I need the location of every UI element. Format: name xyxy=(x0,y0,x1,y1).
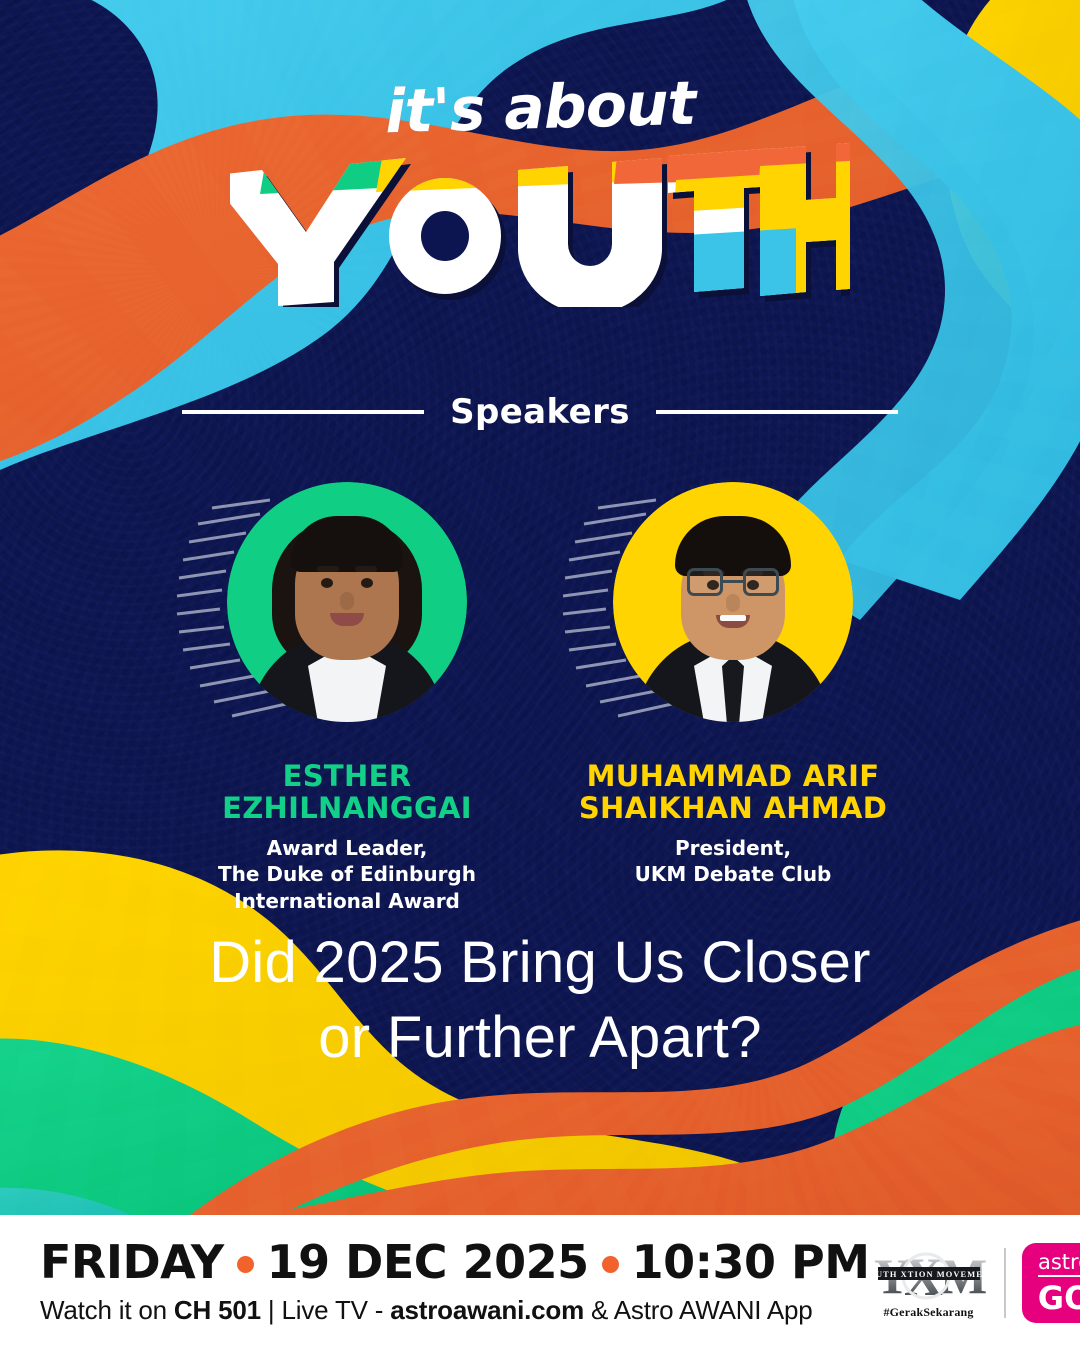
speakers-list: ESTHER EZHILNANGGAI Award Leader, The Du… xyxy=(0,470,1080,914)
poster-canvas: it's about xyxy=(0,0,1080,1350)
astro-go-wordmark-top: astro xyxy=(1038,1252,1080,1277)
speaker-card-muhammad-arif: MUHAMMAD ARIF SHAIKHAN AHMAD President, … xyxy=(568,470,898,914)
speaker-avatar-esther-ezhilnanggai xyxy=(227,482,467,722)
logo-wordmark-youth xyxy=(230,132,850,307)
logo-divider xyxy=(1004,1248,1006,1318)
watch-instructions: Watch it on CH 501 | Live TV - astroawan… xyxy=(40,1295,870,1326)
hair-top xyxy=(291,516,403,572)
speaker-role-line1: President, xyxy=(568,835,898,861)
speaker-name-line2: EZHILNANGGAI xyxy=(182,792,512,824)
air-date: 19 DEC 2025 xyxy=(267,1239,589,1287)
yxm-logo-mark: Y X M YOUTH XTION MOVEMENT xyxy=(870,1245,988,1303)
yxm-logo: Y X M YOUTH XTION MOVEMENT #GerakSekaran… xyxy=(870,1245,988,1320)
speaker-name-line2: SHAIKHAN AHMAD xyxy=(568,792,898,824)
bullet-dot-icon xyxy=(602,1256,619,1273)
astro-go-wordmark-bottom: GO xyxy=(1038,1282,1080,1314)
brand-logo: it's about xyxy=(0,78,1080,307)
yxm-hashtag: #GerakSekarang xyxy=(870,1305,988,1320)
yxm-strip-text: YOUTH XTION MOVEMENT xyxy=(870,1270,988,1279)
headline-line1: Did 2025 Bring Us Closer xyxy=(0,925,1080,1000)
glasses-bridge xyxy=(723,580,743,583)
speaker-avatar-muhammad-arif-shaikhan-ahmad xyxy=(613,482,853,722)
air-day: FRIDAY xyxy=(40,1239,224,1287)
air-time: 10:30 PM xyxy=(632,1239,870,1287)
partner-logos: Y X M YOUTH XTION MOVEMENT #GerakSekaran… xyxy=(870,1243,1080,1323)
channel-number: CH 501 xyxy=(174,1295,261,1325)
live-tv-label: Live TV - xyxy=(282,1295,391,1325)
watch-suffix: & Astro AWANI App xyxy=(584,1295,813,1325)
speaker-name-line1: MUHAMMAD ARIF xyxy=(568,760,898,792)
heading-rule-right xyxy=(656,410,898,414)
speaker-role-line1: Award Leader, xyxy=(182,835,512,861)
speaker-role-line2: UKM Debate Club xyxy=(568,861,898,887)
speaker-role-esther: Award Leader, The Duke of Edinburgh Inte… xyxy=(182,835,512,914)
air-datetime: FRIDAY 19 DEC 2025 10:30 PM xyxy=(40,1239,870,1287)
glasses-lens-left xyxy=(687,568,723,596)
website-url: astroawani.com xyxy=(390,1295,584,1325)
broadcast-info-bar: FRIDAY 19 DEC 2025 10:30 PM Watch it on … xyxy=(0,1215,1080,1350)
speaker-role-muhammad-arif: President, UKM Debate Club xyxy=(568,835,898,888)
glasses-lens-right xyxy=(743,568,779,596)
nose xyxy=(340,592,354,610)
esther-ezhilnanggai-portrait xyxy=(227,482,467,722)
avatar-zone xyxy=(568,470,898,740)
watch-separator: | xyxy=(261,1295,282,1325)
broadcast-text-block: FRIDAY 19 DEC 2025 10:30 PM Watch it on … xyxy=(0,1239,870,1327)
astro-go-logo: astro GO xyxy=(1022,1243,1080,1323)
eye-right xyxy=(361,578,373,588)
muhammad-arif-shaikhan-ahmad-portrait xyxy=(613,482,853,722)
nose xyxy=(726,594,740,612)
watch-prefix: Watch it on xyxy=(40,1295,174,1325)
eyebrow-left xyxy=(317,566,339,572)
episode-headline: Did 2025 Bring Us Closer or Further Apar… xyxy=(0,925,1080,1076)
heading-rule-left xyxy=(182,410,424,414)
speaker-name-line1: ESTHER xyxy=(182,760,512,792)
speaker-name-esther: ESTHER EZHILNANGGAI xyxy=(182,760,512,825)
speakers-heading-label: Speakers xyxy=(450,392,630,432)
speaker-role-line3: International Award xyxy=(182,888,512,914)
bullet-dot-icon xyxy=(237,1256,254,1273)
speaker-card-esther: ESTHER EZHILNANGGAI Award Leader, The Du… xyxy=(182,470,512,914)
avatar-zone xyxy=(182,470,512,740)
headline-line2: or Further Apart? xyxy=(0,1000,1080,1075)
eye-left xyxy=(321,578,333,588)
teeth xyxy=(720,615,746,621)
hair-top xyxy=(675,516,791,576)
speaker-name-muhammad-arif: MUHAMMAD ARIF SHAIKHAN AHMAD xyxy=(568,760,898,825)
eyebrow-right xyxy=(355,566,377,572)
speakers-heading: Speakers xyxy=(0,392,1080,432)
speaker-role-line2: The Duke of Edinburgh xyxy=(182,861,512,887)
